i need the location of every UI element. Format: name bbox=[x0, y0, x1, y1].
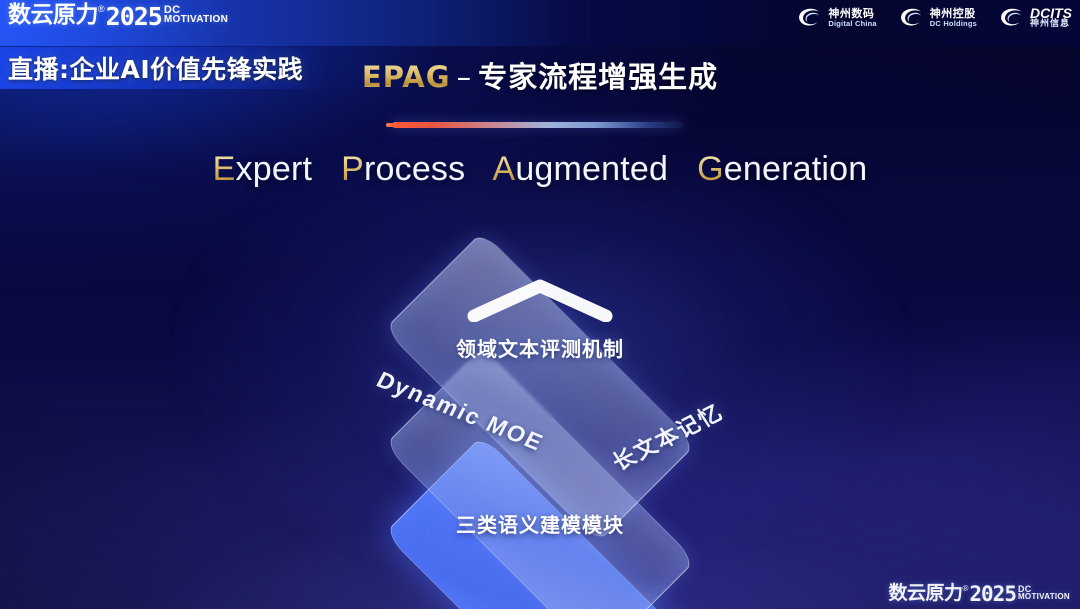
subtitle-word-augmented: Augmented bbox=[492, 150, 668, 188]
subtitle-word-process: Process bbox=[341, 150, 465, 188]
subtitle-rest-augmented: ugmented bbox=[515, 150, 668, 188]
watermark-logo: 数云原力 ® 2025 DC MOTIVATION bbox=[888, 584, 1070, 605]
corporate-name-en: DC Holdings bbox=[930, 20, 977, 28]
brand-registered-mark: ® bbox=[98, 5, 105, 14]
brand-logo: 数云原力 ® 2025 DC MOTIVATION bbox=[8, 4, 228, 29]
subtitle-word-expert: Expert bbox=[213, 150, 312, 188]
subtitle-space-1 bbox=[322, 150, 332, 188]
watermark-motivation-text: MOTIVATION bbox=[1018, 593, 1070, 600]
corporate-logo-group: 神州数码 Digital China 神州控股 DC Holdings bbox=[797, 6, 1072, 29]
title-chinese: 专家流程增强生成 bbox=[478, 60, 718, 94]
subtitle-english: Expert Process Augmented Generation bbox=[0, 150, 1080, 189]
subtitle-space-2 bbox=[475, 150, 485, 188]
subtitle-initial-e: E bbox=[213, 150, 236, 188]
corporate-logo-digital-china: 神州数码 Digital China bbox=[797, 7, 876, 29]
brand-cn-name: 数云原力 bbox=[8, 4, 98, 27]
slide-canvas: 数云原力 ® 2025 DC MOTIVATION 神州数码 Digital C… bbox=[0, 0, 1080, 609]
subtitle-rest-process: rocess bbox=[364, 150, 465, 188]
brand-year: 2025 bbox=[106, 4, 162, 29]
subtitle-initial-g: G bbox=[697, 150, 724, 188]
corporate-name-en: 神州信息 bbox=[1030, 20, 1072, 29]
swoosh-icon bbox=[999, 7, 1025, 29]
corporate-logo-text: 神州数码 Digital China bbox=[828, 8, 876, 27]
corporate-logo-dcits: DCITS 神州信息 bbox=[999, 6, 1072, 29]
title-dash: – bbox=[451, 60, 479, 94]
subtitle-space-3 bbox=[678, 150, 688, 188]
subtitle-initial-a: A bbox=[492, 150, 515, 188]
swoosh-icon bbox=[797, 7, 823, 29]
corporate-logo-text: DCITS 神州信息 bbox=[1030, 6, 1072, 29]
swoosh-icon bbox=[899, 7, 925, 29]
subtitle-initial-p: P bbox=[341, 150, 364, 188]
subtitle-word-generation: Generation bbox=[697, 150, 867, 188]
corporate-logo-dc-holdings: 神州控股 DC Holdings bbox=[899, 7, 977, 29]
watermark-cn-name: 数云原力 bbox=[888, 584, 962, 603]
brand-dc-motivation: DC MOTIVATION bbox=[164, 5, 228, 24]
page-title: EPAG–专家流程增强生成 bbox=[0, 54, 1080, 96]
corporate-name-cn: 神州数码 bbox=[828, 8, 876, 19]
corporate-name-cn: 神州控股 bbox=[930, 8, 977, 19]
gradient-divider bbox=[392, 122, 682, 128]
watermark-dc-motivation: DC MOTIVATION bbox=[1018, 585, 1070, 601]
title-acronym: EPAG bbox=[362, 60, 451, 94]
corporate-name-en: Digital China bbox=[828, 20, 876, 28]
brand-motivation-text: MOTIVATION bbox=[164, 15, 228, 24]
corporate-logo-text: 神州控股 DC Holdings bbox=[930, 8, 977, 27]
subtitle-rest-generation: eneration bbox=[724, 150, 868, 188]
watermark-registered-mark: ® bbox=[962, 585, 968, 593]
subtitle-rest-expert: xpert bbox=[236, 150, 313, 188]
watermark-year: 2025 bbox=[969, 584, 1016, 605]
